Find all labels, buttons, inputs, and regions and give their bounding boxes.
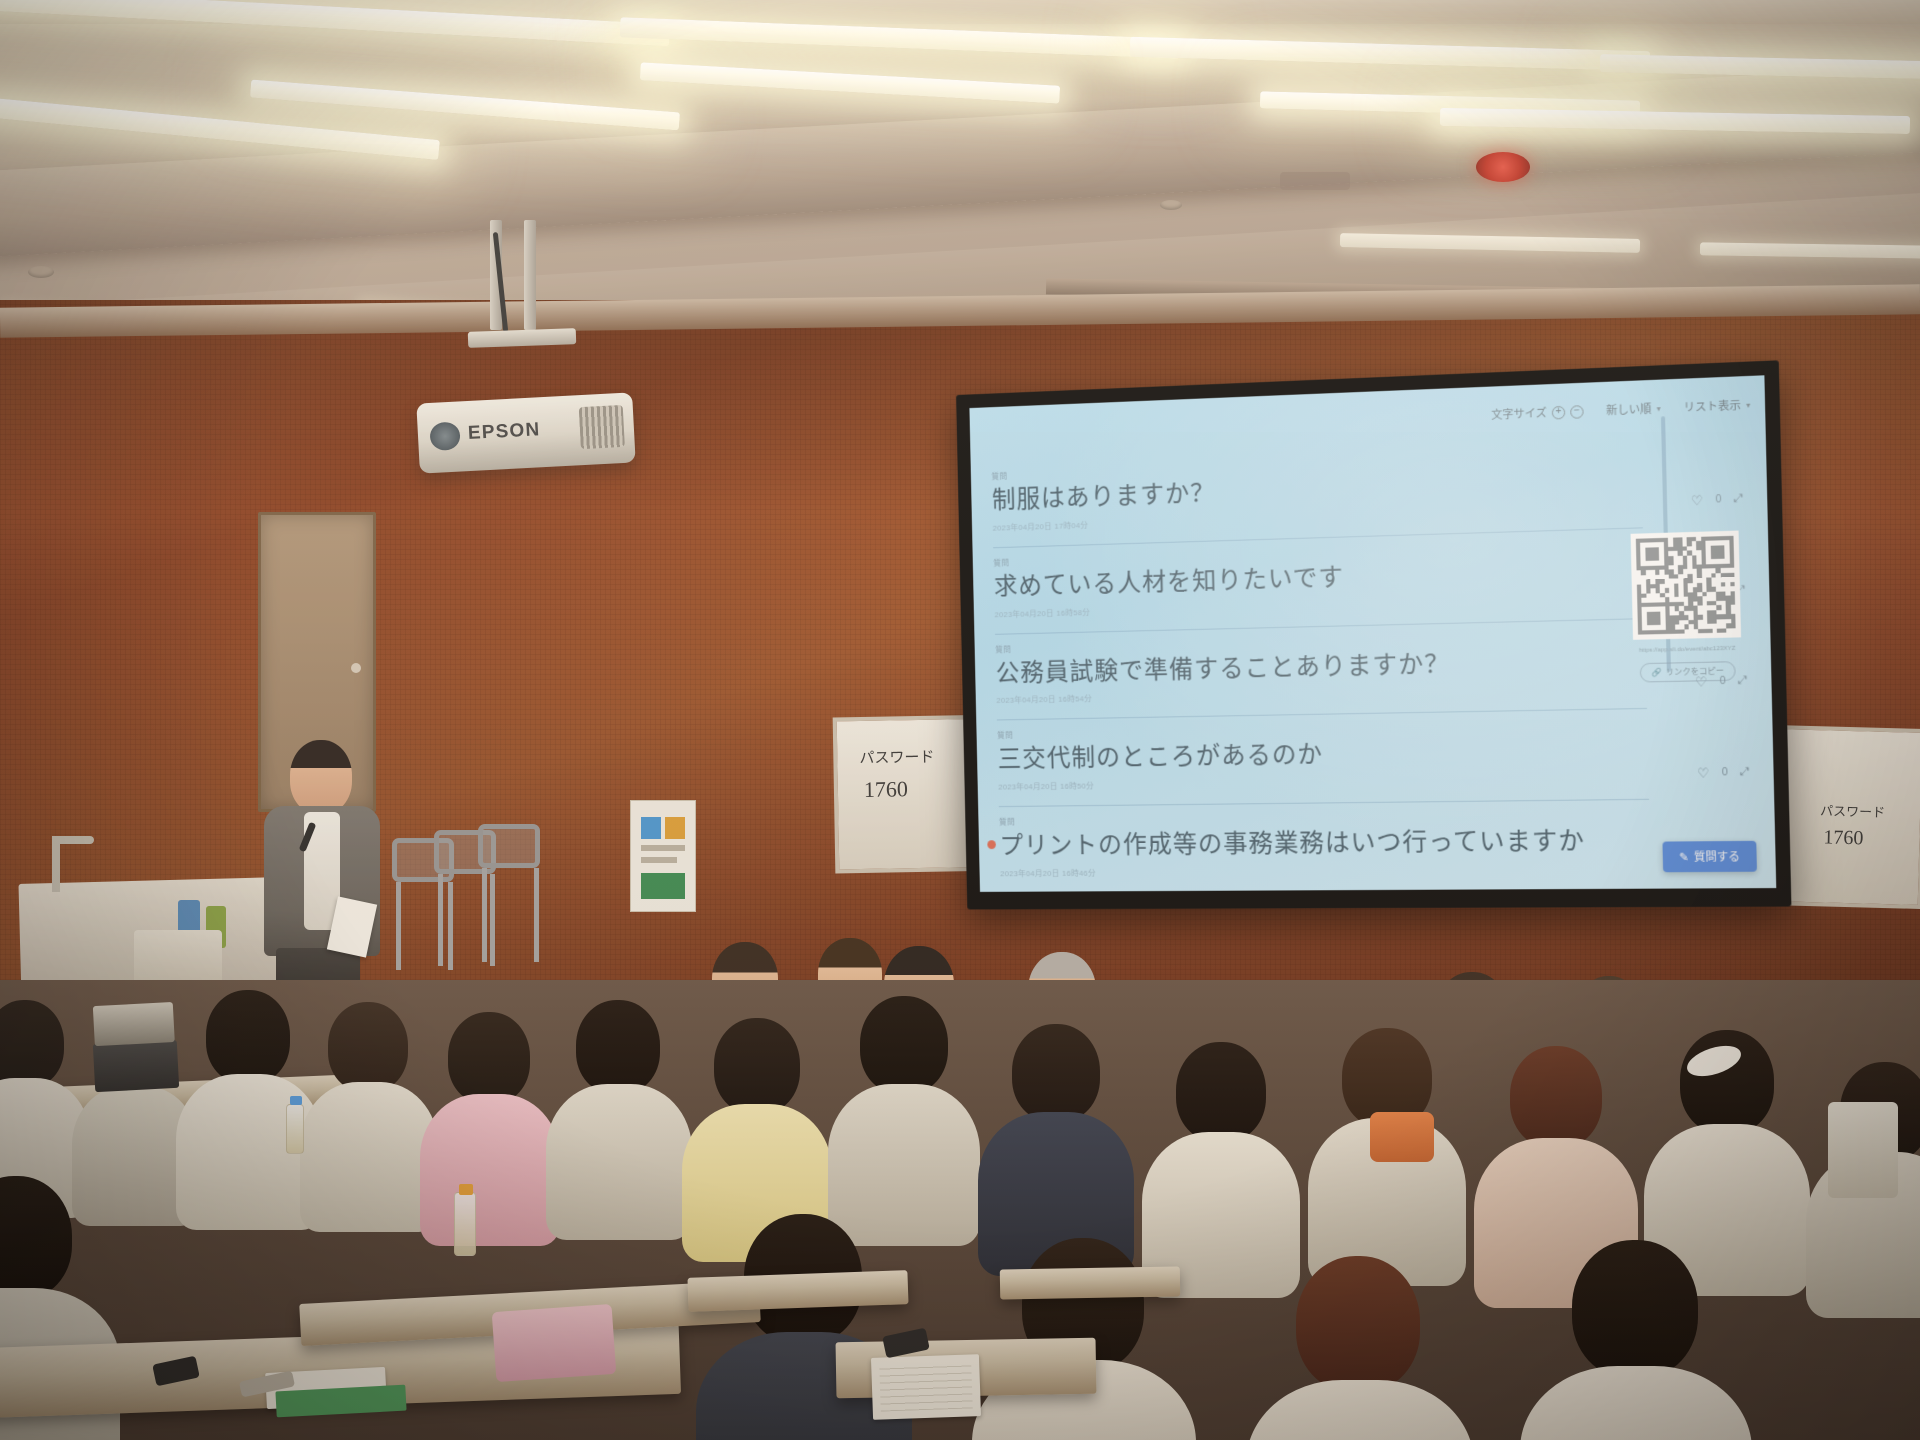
question-actions[interactable]: ♡ 0 ⤢ xyxy=(1697,766,1749,780)
link-icon: 🔗 xyxy=(1651,668,1662,677)
whiteboard-password-label: パスワード xyxy=(859,746,934,768)
wall-poster xyxy=(630,800,696,912)
question-tag: 質問 xyxy=(999,810,1650,828)
handbag[interactable] xyxy=(492,1304,617,1382)
paper-cup xyxy=(1828,1102,1898,1198)
question-timestamp: 2023年04月20日 16時46分 xyxy=(1000,864,1651,879)
share-url: https://app.sli.do/event/abc123XYZ xyxy=(1639,645,1736,656)
ceiling-light xyxy=(640,62,1060,103)
water-bottle[interactable] xyxy=(286,1104,304,1154)
like-count: 0 xyxy=(1722,767,1728,778)
water-bottle[interactable] xyxy=(454,1192,476,1256)
pinned-dot-icon xyxy=(987,840,996,849)
ceiling-light xyxy=(1130,37,1650,72)
question-timestamp: 2023年04月20日 16時54分 xyxy=(996,683,1646,706)
handout-sheet[interactable] xyxy=(871,1354,981,1420)
copy-link-button[interactable]: 🔗 リンクをコピー xyxy=(1640,661,1736,682)
ceiling-vent xyxy=(1280,172,1350,190)
faucet xyxy=(52,836,60,892)
sort-dropdown[interactable]: 新しい順 ▾ xyxy=(1606,400,1661,418)
qr-code xyxy=(1631,531,1741,640)
projected-app: 文字サイズ + − 新しい順 ▾ リスト表示 ▾ 質問 制服はありますか？ xyxy=(969,375,1776,892)
question-row[interactable]: 質問 プリントの作成等の事務業務はいつ行っていますか 2023年04月20日 1… xyxy=(999,800,1651,892)
question-text: 三交代制のところがあるのか xyxy=(997,736,1648,774)
question-actions[interactable]: ♡ 0 ⤢ xyxy=(1691,492,1742,507)
door-knob-icon xyxy=(351,663,361,673)
copy-link-label: リンクをコピー xyxy=(1666,665,1725,677)
laptop[interactable] xyxy=(93,1040,179,1092)
font-size-control[interactable]: 文字サイズ + − xyxy=(1491,403,1584,423)
projector-vent xyxy=(579,405,625,449)
projector: EPSON xyxy=(416,392,635,473)
question-row[interactable]: 質問 公務員試験で準備することありますか？ 2023年04月20日 16時54分… xyxy=(995,619,1647,721)
question-row[interactable]: 質問 三交代制のところがあるのか 2023年04月20日 16時50分 ♡ 0 … xyxy=(997,709,1649,807)
expand-icon[interactable]: ⤢ xyxy=(1740,767,1748,778)
whiteboard-password-value: 1760 xyxy=(864,776,908,803)
whiteboard-right-password-label: パスワード xyxy=(1820,800,1885,821)
question-list[interactable]: 質問 制服はありますか？ 2023年04月20日 17時04分 ♡ 0 ⤢ 質問… xyxy=(991,438,1651,892)
desk xyxy=(1000,1266,1180,1299)
share-panel: https://app.sli.do/event/abc123XYZ 🔗 リンク… xyxy=(1618,530,1754,683)
font-size-label: 文字サイズ xyxy=(1491,405,1547,423)
like-count: 0 xyxy=(1715,494,1721,505)
expand-icon[interactable]: ⤢ xyxy=(1734,493,1742,505)
pencil-icon: ✎ xyxy=(1679,850,1689,863)
heart-icon[interactable]: ♡ xyxy=(1697,766,1709,779)
chevron-down-icon: ▾ xyxy=(1656,404,1660,413)
sort-label: 新しい順 xyxy=(1606,400,1652,418)
view-mode-label: リスト表示 xyxy=(1683,397,1741,416)
post-question-button[interactable]: ✎ 質問する xyxy=(1662,841,1757,872)
view-mode-dropdown[interactable]: リスト表示 ▾ xyxy=(1683,396,1750,415)
exit-indicator-light xyxy=(1476,152,1530,182)
projector-brand-label: EPSON xyxy=(467,419,541,445)
post-question-label: 質問する xyxy=(1694,848,1740,865)
presenter xyxy=(256,740,386,1000)
ceiling-light xyxy=(250,80,680,131)
projector-lens-icon xyxy=(429,421,460,451)
font-increase-button[interactable]: + xyxy=(1552,405,1566,419)
chevron-down-icon: ▾ xyxy=(1746,400,1750,409)
question-text: プリントの作成等の事務業務はいつ行っていますか xyxy=(999,826,1650,860)
whiteboard-right-password-value: 1760 xyxy=(1823,826,1864,850)
question-timestamp: 2023年04月20日 16時50分 xyxy=(998,773,1648,792)
question-row[interactable]: 質問 求めている人材を知りたいです 2023年04月20日 16時58分 ♡ 0… xyxy=(993,528,1645,634)
faucet-arm xyxy=(52,836,94,844)
font-decrease-button[interactable]: − xyxy=(1570,405,1584,419)
smoke-detector-icon xyxy=(1160,200,1182,210)
tote-bag[interactable] xyxy=(1370,1112,1434,1162)
app-toolbar: 文字サイズ + − 新しい順 ▾ リスト表示 ▾ xyxy=(1491,396,1750,422)
lecture-hall-scene: EPSON パスワード 1760 パスワード 1760 文字サイズ + − xyxy=(0,0,1920,1440)
projection-screen: 文字サイズ + − 新しい順 ▾ リスト表示 ▾ 質問 制服はありますか？ xyxy=(956,360,1791,909)
smoke-detector-icon xyxy=(28,266,54,278)
heart-icon[interactable]: ♡ xyxy=(1691,493,1703,507)
